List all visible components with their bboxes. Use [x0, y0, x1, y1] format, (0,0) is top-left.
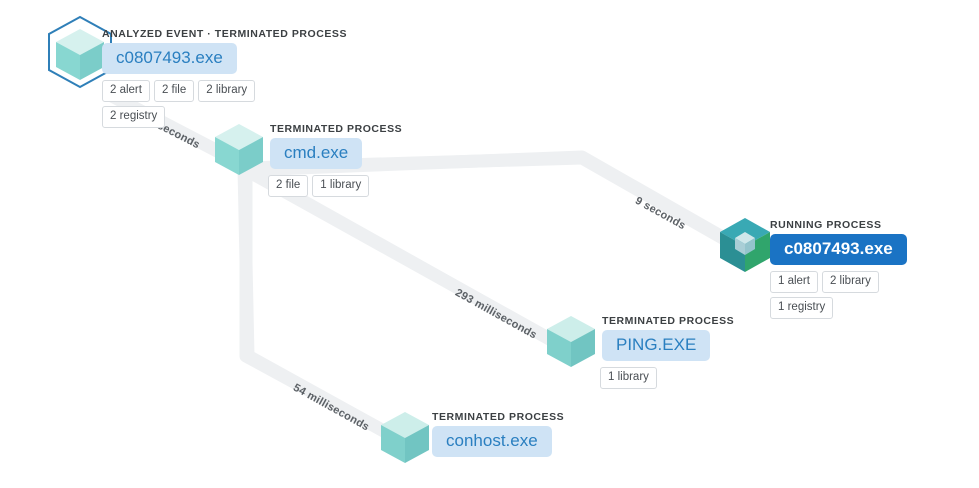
chip-file[interactable]: 2 file — [268, 175, 308, 197]
chip-alert[interactable]: 1 alert — [770, 271, 818, 293]
cmd-exe-cube-icon — [208, 118, 270, 180]
running-process-kind: RUNNING PROCESS — [770, 219, 907, 231]
edge-label-cmd-ping: 293 milliseconds — [453, 287, 539, 342]
conhost-exe-label[interactable]: conhost.exe — [432, 426, 552, 457]
running-process-chips: 1 alert 2 library 1 registry — [770, 271, 907, 319]
edge-label-cmd-conhost: 54 milliseconds — [291, 382, 371, 434]
chip-library[interactable]: 2 library — [198, 80, 255, 102]
chip-library[interactable]: 1 library — [600, 367, 657, 389]
conhost-exe-body: TERMINATED PROCESS conhost.exe — [432, 411, 564, 457]
cmd-exe-body: TERMINATED PROCESS cmd.exe 2 file 1 libr… — [270, 123, 402, 197]
running-process-cube-icon — [714, 214, 776, 276]
chip-library[interactable]: 2 library — [822, 271, 879, 293]
running-process-body: RUNNING PROCESS c0807493.exe 1 alert 2 l… — [770, 219, 907, 319]
ping-exe-chips: 1 library — [600, 367, 734, 389]
chip-registry[interactable]: 2 registry — [102, 106, 165, 128]
chip-alert[interactable]: 2 alert — [102, 80, 150, 102]
ping-exe-label[interactable]: PING.EXE — [602, 330, 710, 361]
ping-exe-body: TERMINATED PROCESS PING.EXE 1 library — [602, 315, 734, 389]
chip-library[interactable]: 1 library — [312, 175, 369, 197]
analyzed-event-body: ANALYZED EVENT · TERMINATED PROCESS c080… — [102, 28, 347, 128]
ping-exe-kind: TERMINATED PROCESS — [602, 315, 734, 327]
cmd-exe-kind: TERMINATED PROCESS — [270, 123, 402, 135]
running-process-label[interactable]: c0807493.exe — [770, 234, 907, 265]
analyzed-event-kind: ANALYZED EVENT · TERMINATED PROCESS — [102, 28, 347, 40]
conhost-exe-cube-icon — [374, 406, 436, 468]
process-tree-canvas: seconds 9 seconds 293 milliseconds 54 mi… — [0, 0, 979, 488]
cmd-exe-chips: 2 file 1 library — [268, 175, 402, 197]
chip-file[interactable]: 2 file — [154, 80, 194, 102]
edge-label-cmd-running: 9 seconds — [633, 195, 687, 232]
cmd-exe-label[interactable]: cmd.exe — [270, 138, 362, 169]
conhost-exe-kind: TERMINATED PROCESS — [432, 411, 564, 423]
chip-registry[interactable]: 1 registry — [770, 297, 833, 319]
ping-exe-cube-icon — [540, 310, 602, 372]
analyzed-event-label[interactable]: c0807493.exe — [102, 43, 237, 74]
